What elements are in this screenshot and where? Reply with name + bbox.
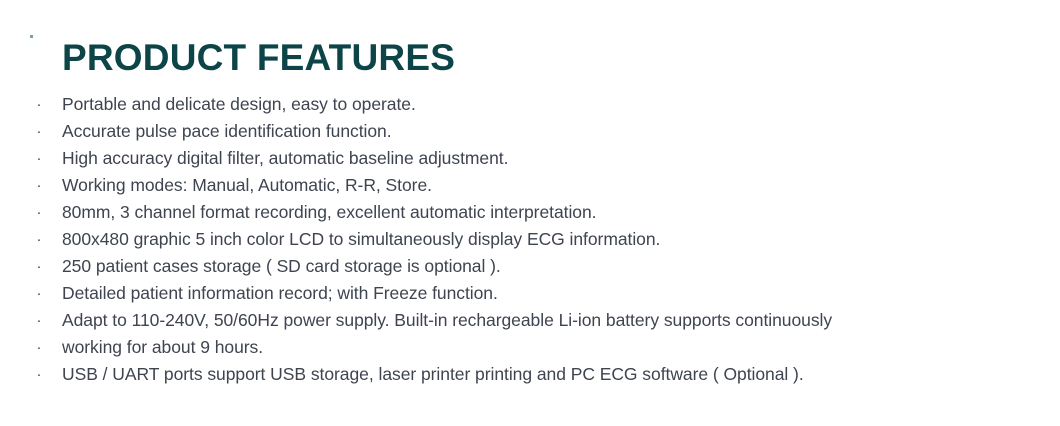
list-item: · Adapt to 110-240V, 50/60Hz power suppl… (30, 307, 1050, 334)
product-features-slide: PRODUCT FEATURES · Portable and delicate… (0, 0, 1060, 426)
feature-text: USB / UART ports support USB storage, la… (62, 361, 804, 388)
bullet-icon: · (34, 334, 44, 361)
bullet-icon: · (34, 280, 44, 307)
feature-text: 250 patient cases storage ( SD card stor… (62, 253, 501, 280)
feature-text: Working modes: Manual, Automatic, R-R, S… (62, 172, 432, 199)
list-item: · Accurate pulse pace identification fun… (30, 118, 1050, 145)
feature-text: Detailed patient information record; wit… (62, 280, 498, 307)
bullet-icon: · (34, 361, 44, 388)
feature-text: Accurate pulse pace identification funct… (62, 118, 392, 145)
feature-text: Adapt to 110-240V, 50/60Hz power supply.… (62, 307, 832, 334)
feature-text: working for about 9 hours. (62, 334, 263, 361)
list-item: · 250 patient cases storage ( SD card st… (30, 253, 1050, 280)
list-item: · Working modes: Manual, Automatic, R-R,… (30, 172, 1050, 199)
bullet-icon: · (34, 91, 44, 118)
decorative-speck (30, 35, 33, 38)
feature-text: High accuracy digital filter, automatic … (62, 145, 508, 172)
list-item: · working for about 9 hours. (30, 334, 1050, 361)
list-item: · High accuracy digital filter, automati… (30, 145, 1050, 172)
list-item: · USB / UART ports support USB storage, … (30, 361, 1050, 388)
bullet-icon: · (34, 118, 44, 145)
feature-text: Portable and delicate design, easy to op… (62, 91, 416, 118)
bullet-icon: · (34, 226, 44, 253)
bullet-icon: · (34, 307, 44, 334)
feature-list: · Portable and delicate design, easy to … (30, 91, 1050, 388)
feature-text: 80mm, 3 channel format recording, excell… (62, 199, 596, 226)
list-item: · 80mm, 3 channel format recording, exce… (30, 199, 1050, 226)
bullet-icon: · (34, 199, 44, 226)
bullet-icon: · (34, 253, 44, 280)
page-title: PRODUCT FEATURES (62, 36, 455, 80)
feature-text: 800x480 graphic 5 inch color LCD to simu… (62, 226, 660, 253)
list-item: · 800x480 graphic 5 inch color LCD to si… (30, 226, 1050, 253)
list-item: · Detailed patient information record; w… (30, 280, 1050, 307)
bullet-icon: · (34, 145, 44, 172)
list-item: · Portable and delicate design, easy to … (30, 91, 1050, 118)
bullet-icon: · (34, 172, 44, 199)
